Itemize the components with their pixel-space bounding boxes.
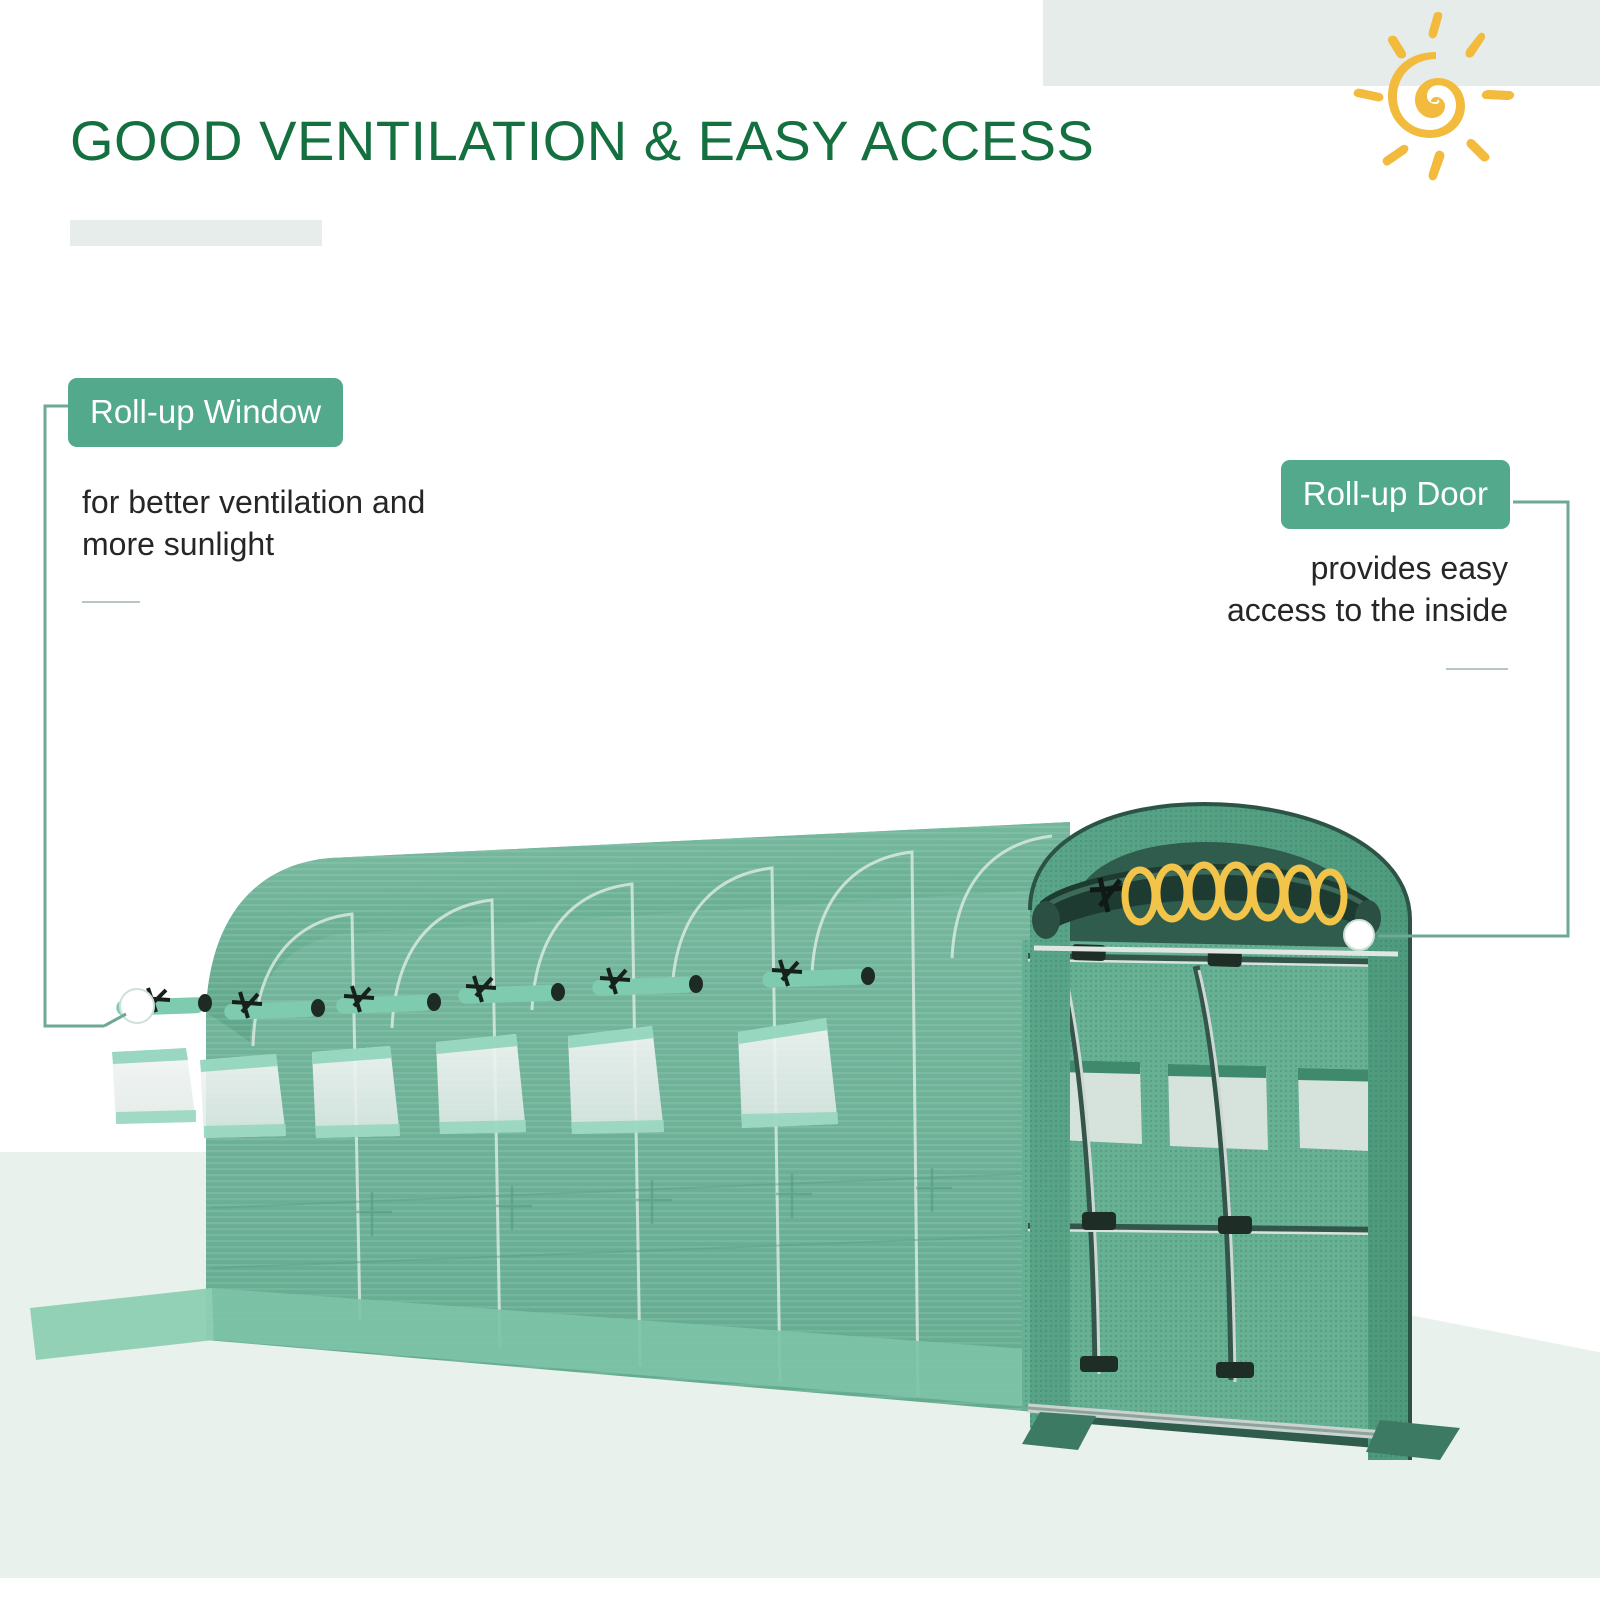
white-dot-marker (120, 989, 154, 1023)
callout-divider-right (1446, 668, 1508, 670)
infographic-canvas: GOOD VENTILATION & EASY ACCESS (0, 0, 1600, 1600)
callout-chip-roll-up-door[interactable]: Roll-up Door (1281, 460, 1510, 529)
callout-connectors (0, 0, 1600, 1600)
callout-chip-roll-up-window[interactable]: Roll-up Window (68, 378, 343, 447)
white-dot-marker (1344, 920, 1374, 950)
callout-text-roll-up-door: provides easy access to the inside (1227, 548, 1508, 631)
callout-text-roll-up-window: for better ventilation and more sunlight (82, 482, 425, 565)
callout-divider-left (82, 601, 140, 603)
